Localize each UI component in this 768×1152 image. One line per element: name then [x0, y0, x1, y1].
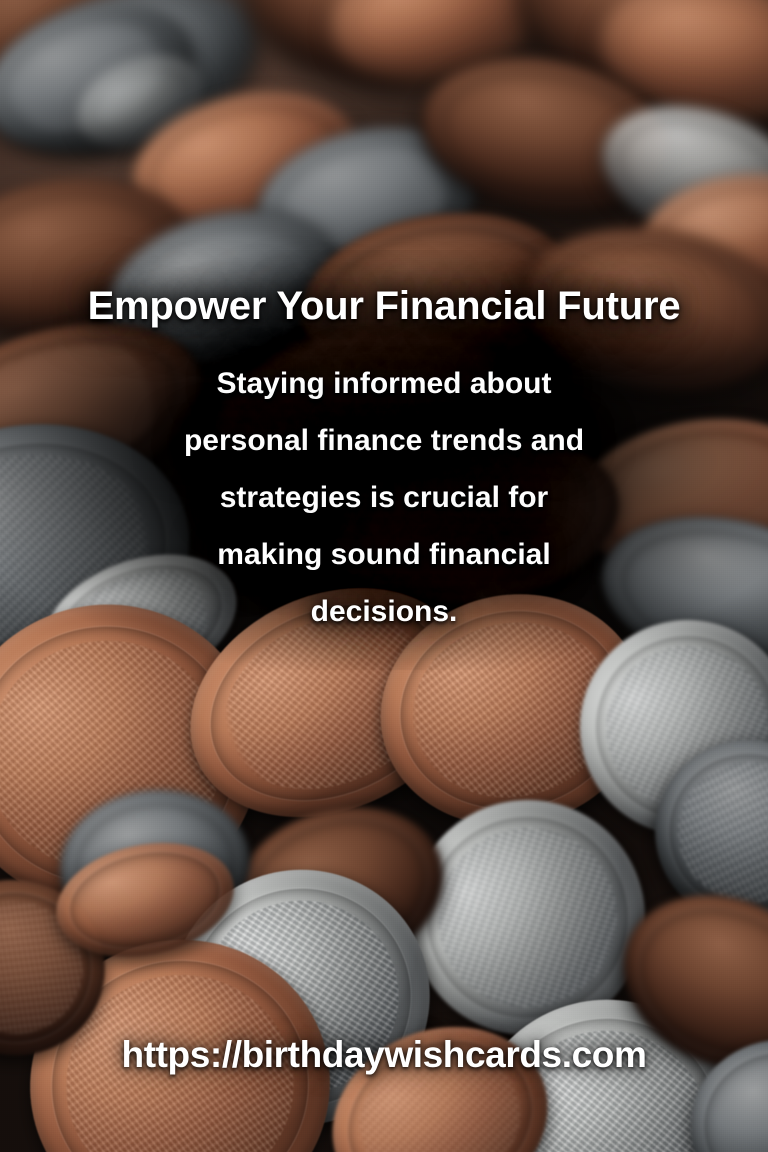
body-line: personal finance trends and — [0, 412, 768, 469]
body-line: strategies is crucial for — [0, 469, 768, 526]
body-line: making sound financial — [0, 526, 768, 583]
body-copy: Staying informed about personal finance … — [0, 355, 768, 640]
page-title: Empower Your Financial Future — [0, 284, 768, 329]
poster-canvas: Empower Your Financial Future Staying in… — [0, 0, 768, 1152]
site-url[interactable]: https://birthdaywishcards.com — [0, 1035, 768, 1076]
body-line: Staying informed about — [0, 355, 768, 412]
text-layer: Empower Your Financial Future Staying in… — [0, 0, 768, 1152]
body-line: decisions. — [0, 583, 768, 640]
